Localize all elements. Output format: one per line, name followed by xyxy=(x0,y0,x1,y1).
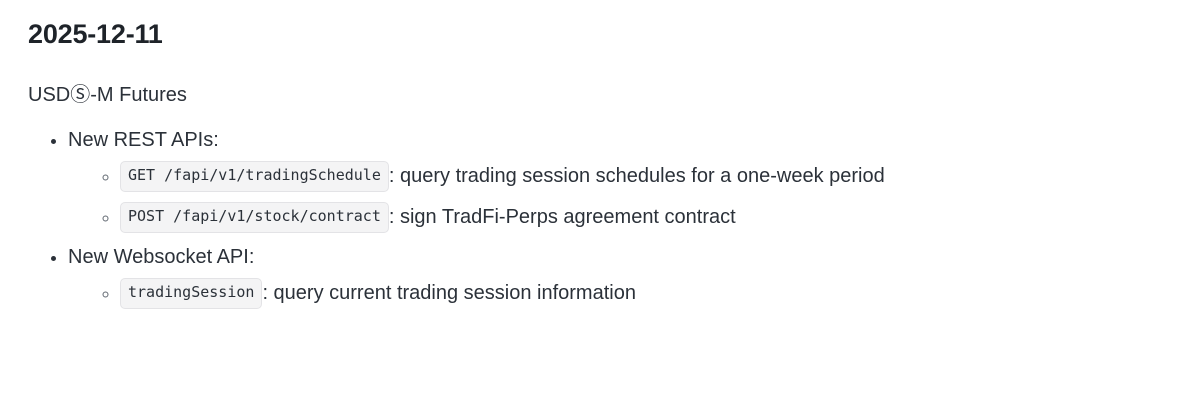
api-endpoint-description: : query trading session schedules for a … xyxy=(389,165,885,187)
api-endpoint-chip: GET /fapi/v1/tradingSchedule xyxy=(120,161,389,192)
api-endpoint-description: : query current trading session informat… xyxy=(262,282,636,304)
changelog-group: New Websocket API: tradingSession: query… xyxy=(68,243,1200,309)
product-section-title: USDⓈ-M Futures xyxy=(0,50,1200,108)
changelog-entry: 2025-12-11 USDⓈ-M Futures New REST APIs:… xyxy=(0,0,1200,309)
api-endpoint-description: : sign TradFi-Perps agreement contract xyxy=(389,206,736,228)
list-item: tradingSession: query current trading se… xyxy=(120,278,1200,309)
changelog-group: New REST APIs: GET /fapi/v1/tradingSched… xyxy=(68,126,1200,233)
entry-date-heading: 2025-12-11 xyxy=(0,0,1200,50)
list-item: POST /fapi/v1/stock/contract: sign TradF… xyxy=(120,202,1200,233)
api-endpoint-chip: POST /fapi/v1/stock/contract xyxy=(120,202,389,233)
api-item-list-websocket: tradingSession: query current trading se… xyxy=(68,278,1200,309)
api-endpoint-chip: tradingSession xyxy=(120,278,262,309)
group-label-websocket-api: New Websocket API: xyxy=(68,246,254,268)
group-label-rest-apis: New REST APIs: xyxy=(68,129,219,151)
api-item-list-rest: GET /fapi/v1/tradingSchedule: query trad… xyxy=(68,161,1200,233)
list-item: GET /fapi/v1/tradingSchedule: query trad… xyxy=(120,161,1200,192)
changelog-group-list: New REST APIs: GET /fapi/v1/tradingSched… xyxy=(0,126,1200,308)
